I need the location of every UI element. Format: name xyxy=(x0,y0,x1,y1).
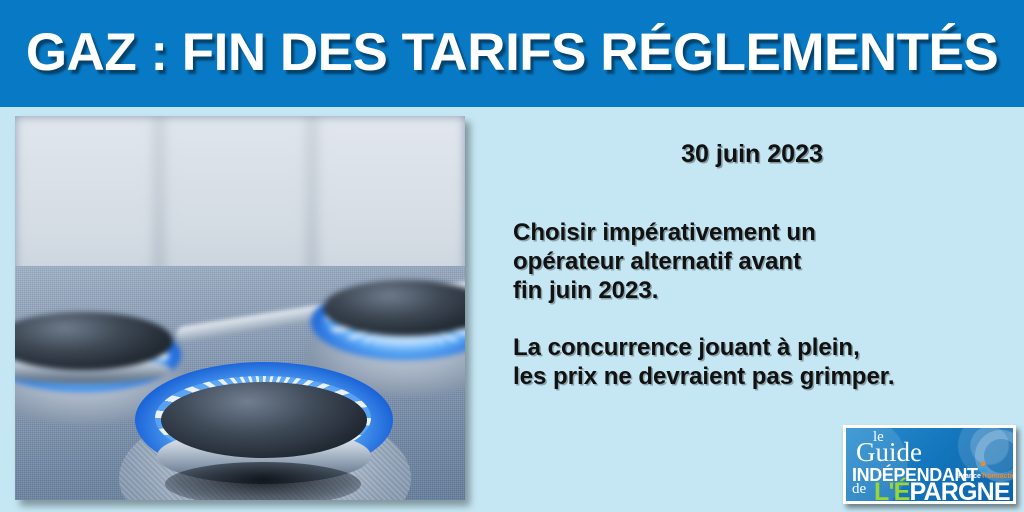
burner-inner-shadow xyxy=(165,462,361,500)
logo-text-de: de xyxy=(852,482,866,497)
page-title: GAZ : FIN DES TARIFS RÉGLEMENTÉS xyxy=(26,26,998,79)
body-paragraph-1: Choisir impérativement un opérateur alte… xyxy=(513,218,816,305)
logo-guide-independant-epargne[interactable]: le Guide INDÉPENDANT FranceTransactions.… xyxy=(843,425,1016,504)
burner-front-main xyxy=(113,342,413,500)
logo-text-epargne-rest: PARGNE xyxy=(910,478,1010,504)
infographic-page: GAZ : FIN DES TARIFS RÉGLEMENTÉS xyxy=(0,0,1024,512)
france-transactions-icon xyxy=(976,461,990,473)
date-heading: 30 juin 2023 xyxy=(513,140,991,169)
burner-cap xyxy=(161,382,367,458)
gas-stove-photo xyxy=(15,116,465,500)
logo-text-epargne-accent: L'É xyxy=(874,478,910,504)
body-paragraph-2: La concurrence jouant à plein, les prix … xyxy=(513,333,895,391)
logo-text-epargne: L'ÉPARGNE xyxy=(874,480,1010,504)
header-banner: GAZ : FIN DES TARIFS RÉGLEMENTÉS xyxy=(0,0,1024,107)
logo-text-guide: Guide xyxy=(856,439,922,466)
